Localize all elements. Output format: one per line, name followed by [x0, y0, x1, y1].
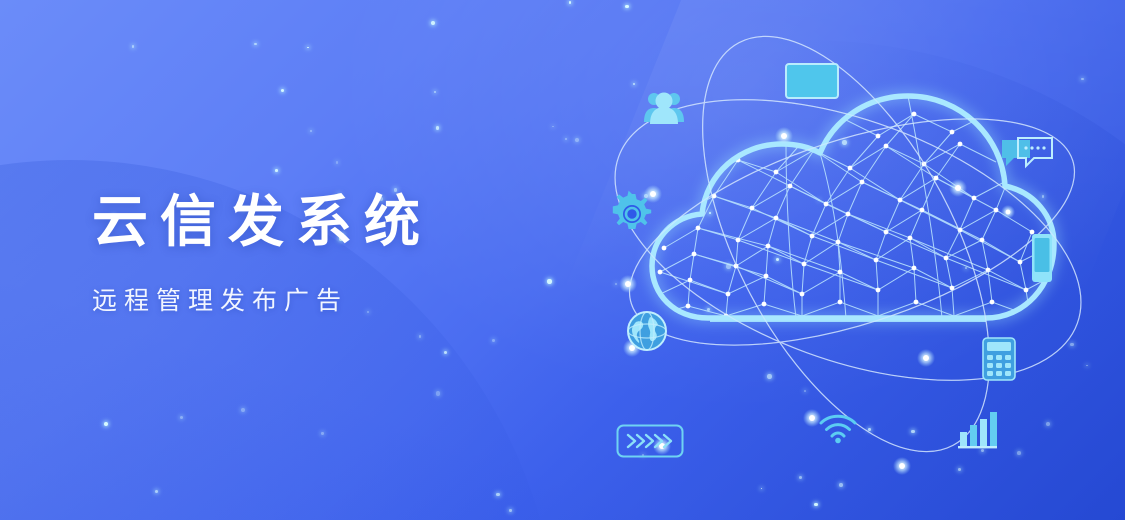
gear-icon [610, 192, 654, 236]
sparkle-dot [575, 138, 579, 142]
sparkle-dot [281, 89, 284, 92]
sparkle-dot [492, 339, 495, 342]
sparkle-dot [307, 47, 309, 49]
sparkle-dot [132, 45, 134, 47]
sparkle-dot [496, 493, 500, 497]
sparkle-dot [180, 416, 183, 419]
sparkle-dot [509, 509, 511, 511]
sparkle-dot [321, 432, 323, 434]
page-subtitle: 远程管理发布广告 [92, 281, 432, 317]
sparkle-dot [565, 138, 567, 140]
sparkle-dot [104, 422, 108, 426]
sparkle-dot [434, 91, 436, 93]
chat-bubbles-icon [1000, 136, 1054, 174]
wifi-signal-icon [818, 412, 858, 444]
monitor-screen-icon [784, 62, 840, 100]
sparkle-dot [431, 21, 435, 25]
sparkle-dot [254, 43, 257, 46]
users-group-icon [642, 88, 686, 126]
sparkle-dot [155, 490, 158, 493]
cloud-outline [652, 96, 1054, 318]
sparkle-dot [625, 5, 628, 8]
sparkle-dot [436, 126, 439, 129]
calculator-icon [982, 337, 1016, 381]
bar-chart-icon [956, 408, 998, 450]
sparkle-dot [336, 161, 338, 163]
sparkle-dot [436, 391, 440, 395]
sparkle-dot [444, 351, 447, 354]
cloud-glow [652, 96, 1054, 318]
page-title: 云信发系统 [92, 190, 432, 255]
promo-banner: 云信发系统 远程管理发布广告 [0, 0, 1125, 520]
sparkle-dot [275, 169, 278, 172]
sparkle-dot [547, 279, 551, 283]
mobile-phone-icon [1030, 232, 1054, 284]
sparkle-dot [241, 408, 245, 412]
globe-icon [626, 310, 668, 352]
sparkle-dot [569, 1, 571, 3]
sparkle-dot [310, 130, 312, 132]
fast-forward-arrows-icon [616, 424, 684, 458]
cloud-mesh [652, 96, 1060, 318]
text-block: 云信发系统 远程管理发布广告 [92, 190, 432, 317]
sparkle-dot [552, 126, 554, 128]
sparkle-dot [419, 335, 421, 337]
